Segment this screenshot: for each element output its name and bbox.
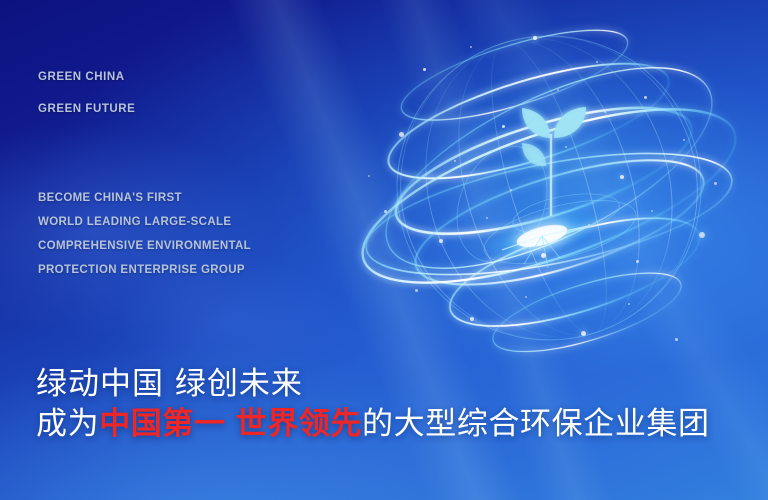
globe-outline	[397, 36, 701, 340]
globe-latitude-rings	[358, 1, 742, 384]
mission-line-3: COMPREHENSIVE ENVIRONMENTAL	[38, 234, 251, 258]
globe-sphere-fill	[397, 36, 701, 340]
tagline-line-2: GREEN FUTURE	[38, 102, 135, 116]
headline-block: 绿动中国 绿创未来 成为中国第一世界领先的大型综合环保企业集团	[36, 366, 710, 444]
globe-inner-lattice	[441, 133, 642, 276]
mission-line-2: WORLD LEADING LARGE-SCALE	[38, 210, 251, 234]
globe-orbit-rings	[343, 27, 754, 318]
sprout-icon	[522, 107, 586, 216]
headline-line-2: 成为中国第一世界领先的大型综合环保企业集团	[36, 404, 710, 444]
headline-line-1: 绿动中国 绿创未来	[36, 366, 710, 402]
globe-core-glow	[477, 201, 607, 272]
globe-meridians	[363, 0, 735, 377]
headline-prefix: 成为	[36, 406, 99, 442]
headline-suffix: 的大型综合环保企业集团	[362, 406, 710, 442]
wireframe-globe	[352, 18, 746, 374]
tagline-line-1: GREEN CHINA	[38, 70, 135, 84]
mission-line-4: PROTECTION ENTERPRISE GROUP	[38, 258, 251, 282]
headline-accent-world-leading: 世界领先	[236, 406, 362, 442]
mission-statement-block: BECOME CHINA'S FIRST WORLD LEADING LARGE…	[38, 186, 251, 282]
tagline-block: GREEN CHINA GREEN FUTURE	[38, 70, 135, 134]
headline-accent-china-first: 中国第一	[99, 406, 225, 442]
hero-banner: GREEN CHINA GREEN FUTURE BECOME CHINA'S …	[0, 0, 768, 500]
particle-dots	[352, 18, 746, 374]
mission-line-1: BECOME CHINA'S FIRST	[38, 186, 251, 210]
